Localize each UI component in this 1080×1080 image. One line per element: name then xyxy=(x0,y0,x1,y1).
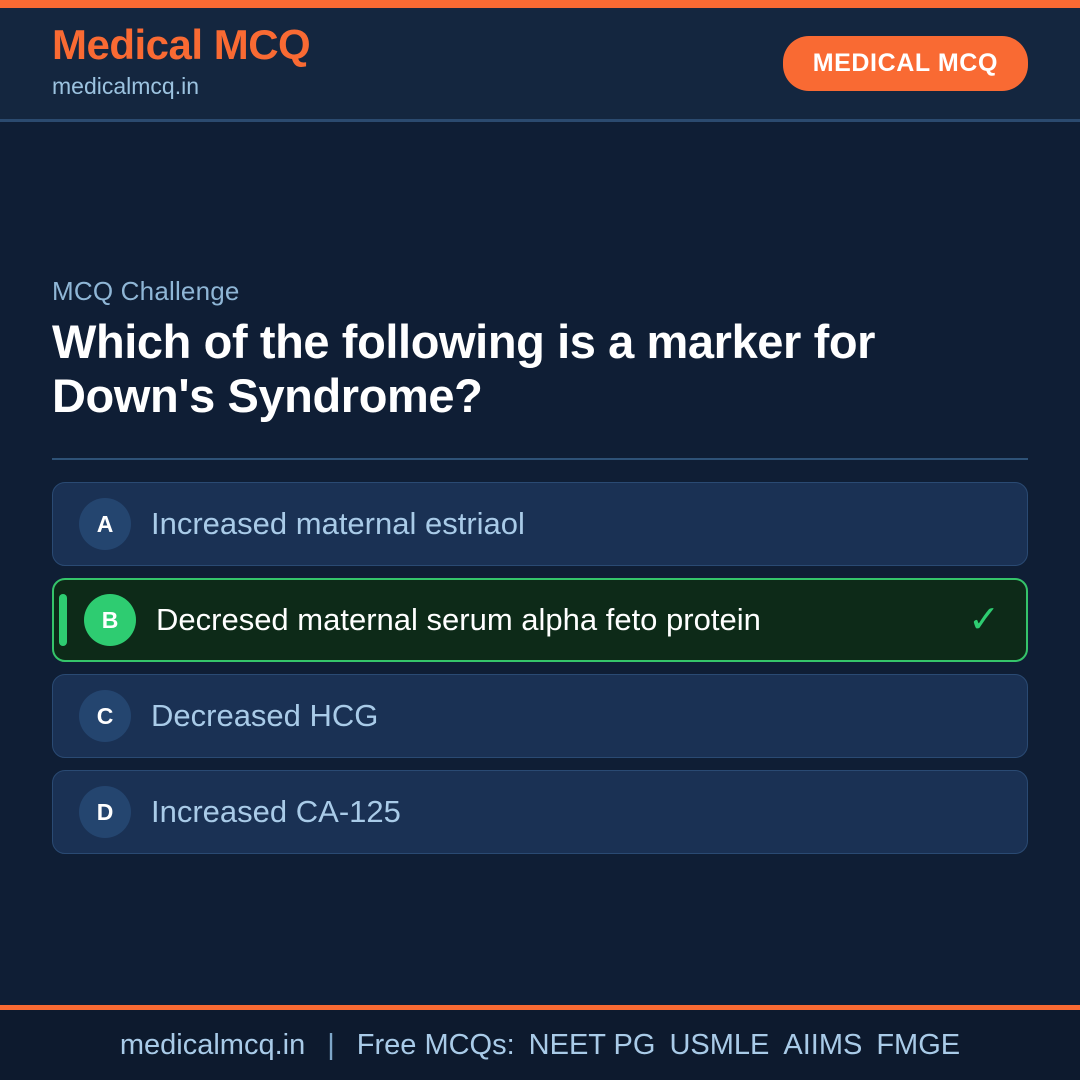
top-accent-stripe xyxy=(0,0,1080,8)
footer-exam-fmge[interactable]: FMGE xyxy=(876,1029,960,1062)
option-letter-badge: B xyxy=(84,594,136,646)
footer-label: Free MCQs: xyxy=(357,1029,515,1062)
footer-exam-aiims[interactable]: AIIMS xyxy=(783,1029,862,1062)
option-letter-badge: A xyxy=(79,498,131,550)
footer-site-link[interactable]: medicalmcq.in xyxy=(120,1029,305,1062)
option-label: Increased CA-125 xyxy=(151,793,955,830)
question-text: Which of the following is a marker for D… xyxy=(52,315,972,422)
check-icon: ✓ xyxy=(968,601,1000,639)
option-label: Decreased HCG xyxy=(151,697,955,734)
options-list: A Increased maternal estriaol ✓ B Decres… xyxy=(52,482,1028,854)
footer-bar: medicalmcq.in | Free MCQs: NEET PG USMLE… xyxy=(0,1005,1080,1080)
main-content: MCQ Challenge Which of the following is … xyxy=(0,125,1080,1005)
eyebrow-label: MCQ Challenge xyxy=(52,276,1028,307)
option-row-d[interactable]: D Increased CA-125 ✓ xyxy=(52,770,1028,854)
footer-exam-neet-pg[interactable]: NEET PG xyxy=(529,1029,656,1062)
footer-separator: | xyxy=(327,1029,335,1062)
header-bar: Medical MCQ medicalmcq.in MEDICAL MCQ xyxy=(0,8,1080,122)
question-divider xyxy=(52,458,1028,460)
brand-subtitle: medicalmcq.in xyxy=(52,69,310,104)
option-letter-badge: C xyxy=(79,690,131,742)
footer-exam-usmle[interactable]: USMLE xyxy=(669,1029,769,1062)
option-row-c[interactable]: C Decreased HCG ✓ xyxy=(52,674,1028,758)
correct-accent-bar xyxy=(59,594,67,646)
brand-title: Medical MCQ xyxy=(52,23,310,67)
option-row-b[interactable]: B Decresed maternal serum alpha feto pro… xyxy=(52,578,1028,662)
brand-block: Medical MCQ medicalmcq.in xyxy=(52,23,310,104)
option-letter-badge: D xyxy=(79,786,131,838)
header-badge: MEDICAL MCQ xyxy=(783,36,1028,91)
footer-content: medicalmcq.in | Free MCQs: NEET PG USMLE… xyxy=(120,1029,960,1062)
option-label: Decresed maternal serum alpha feto prote… xyxy=(156,601,954,638)
option-label: Increased maternal estriaol xyxy=(151,505,955,542)
option-row-a[interactable]: A Increased maternal estriaol ✓ xyxy=(52,482,1028,566)
